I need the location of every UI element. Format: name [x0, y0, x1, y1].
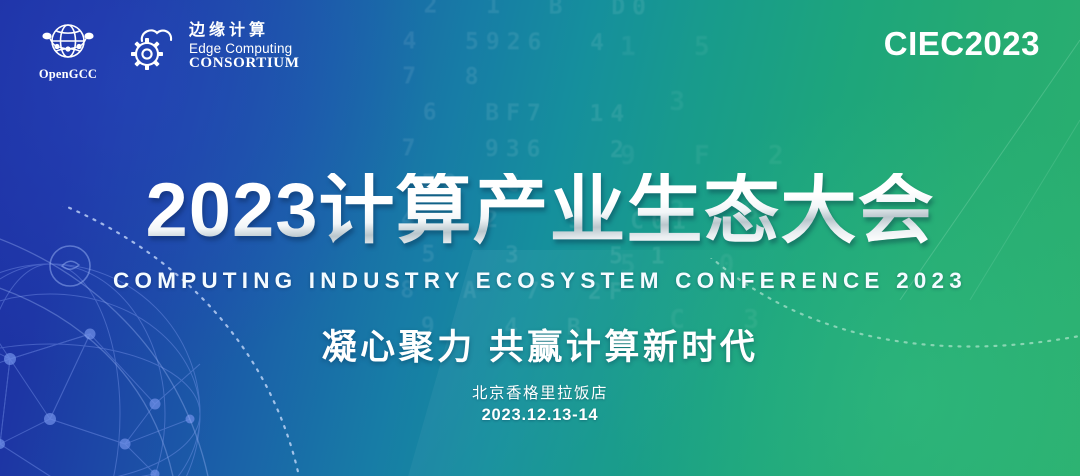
- date-text: 2023.12.13-14: [0, 406, 1080, 425]
- page-title: 2023计算产业生态大会: [0, 173, 1080, 249]
- venue-text: 北京香格里拉饭店: [0, 381, 1080, 403]
- subtitle-english: COMPUTING INDUSTRY ECOSYSTEM CONFERENCE …: [0, 268, 1080, 294]
- slogan: 凝心聚力 共赢计算新时代: [0, 319, 1080, 370]
- conference-banner: 2 1 B D0 4 5926 4 7 8 6 BF7 14 7 936 2 B…: [0, 0, 1080, 476]
- banner-content: 2023计算产业生态大会 COMPUTING INDUSTRY ECOSYSTE…: [0, 0, 1080, 476]
